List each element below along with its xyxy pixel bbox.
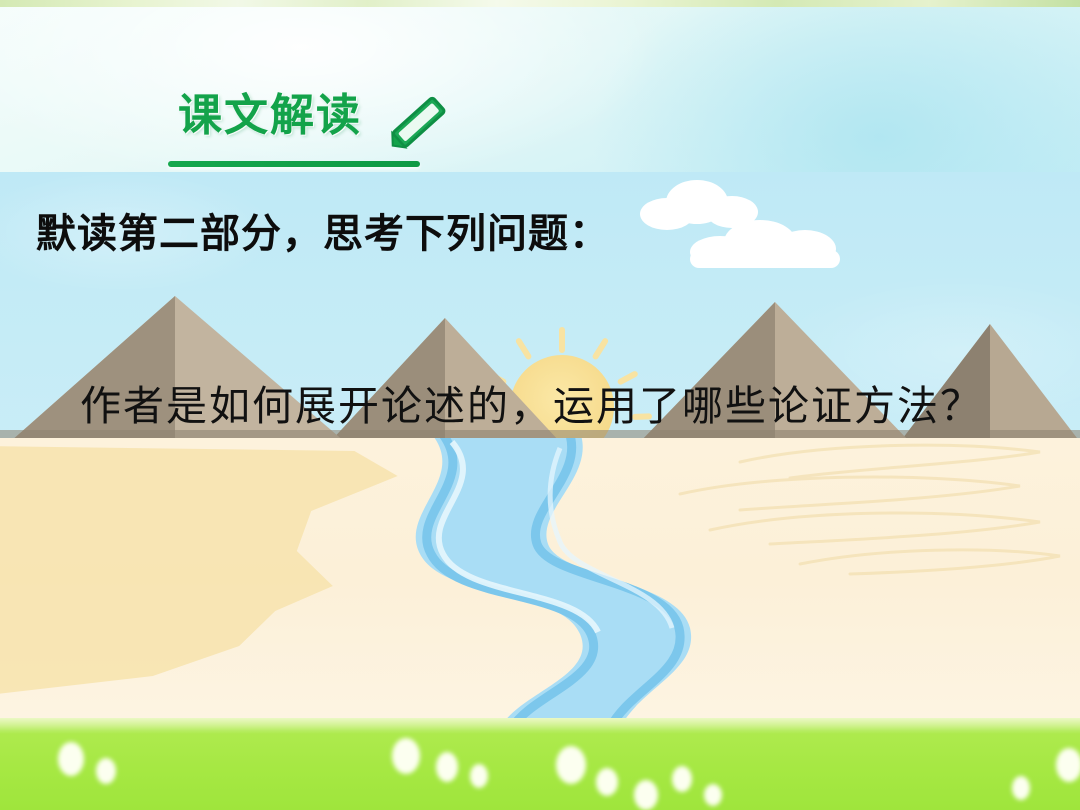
header-band: 课文解读	[0, 7, 1080, 172]
slide-text-line-2: 作者是如何展开论述的，运用了哪些论证方法？	[80, 372, 983, 432]
top-decorative-strip	[0, 0, 1080, 7]
flower-icon	[1012, 776, 1030, 800]
grass-layer	[0, 718, 1080, 810]
flower-icon	[672, 766, 692, 792]
flower-icon	[596, 768, 618, 796]
flower-icon	[556, 746, 586, 784]
flower-icon	[392, 738, 420, 774]
slide-text-line-1: 默读第二部分，思考下列问题：	[36, 201, 610, 259]
flower-icon	[436, 752, 458, 782]
flower-icon	[634, 780, 658, 810]
cloud-icon	[690, 220, 840, 268]
pencil-icon	[383, 89, 455, 159]
title-underline	[168, 161, 420, 167]
page-title: 课文解读	[178, 79, 362, 143]
illustration-scene	[0, 172, 1080, 810]
slide-canvas: 课文解读	[0, 0, 1080, 810]
flower-icon	[1056, 748, 1080, 782]
flower-icon	[470, 764, 488, 788]
section-title-group: 课文解读	[178, 79, 478, 175]
flower-icon	[96, 758, 116, 784]
flower-icon	[58, 742, 84, 776]
river-icon	[0, 438, 1080, 728]
flower-icon	[704, 784, 722, 806]
